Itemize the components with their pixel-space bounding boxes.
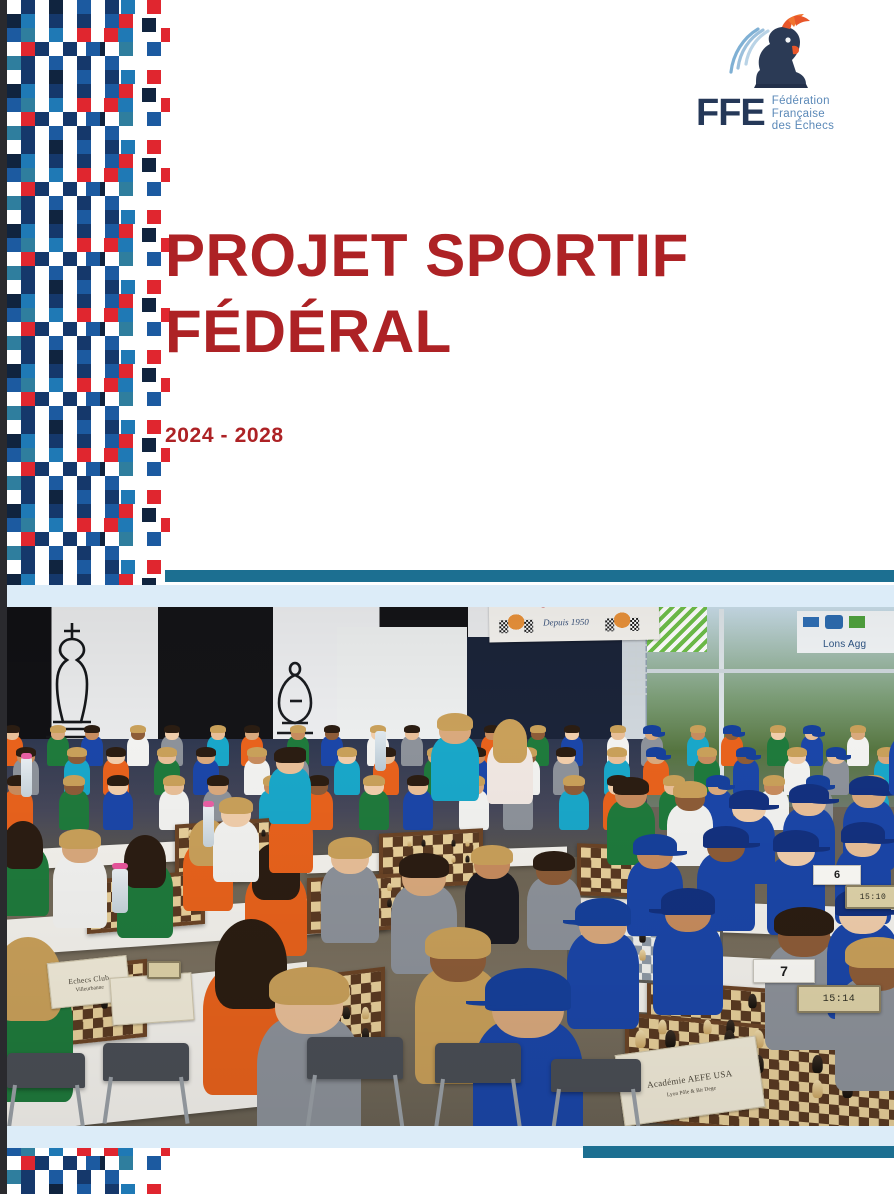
mosaic-cell	[77, 266, 91, 280]
mosaic-cell	[21, 504, 35, 518]
mosaic-cell	[21, 28, 35, 42]
mosaic-cell	[63, 112, 77, 126]
mosaic-cell	[121, 1184, 135, 1194]
mosaic-cell	[77, 56, 91, 70]
mosaic-cell	[49, 448, 63, 462]
mosaic-cell	[119, 294, 133, 308]
mosaic-cell	[49, 378, 63, 392]
mosaic-cell	[161, 518, 170, 532]
person-hair	[157, 747, 177, 757]
mosaic-cell	[105, 434, 119, 448]
mosaic-cell	[35, 252, 49, 266]
person-hair	[425, 927, 490, 959]
bottle-cap-4	[112, 863, 128, 869]
mosaic-cell	[105, 406, 119, 420]
folding-chair	[551, 1059, 641, 1092]
mosaic-cell	[21, 168, 35, 182]
mosaic-cell	[49, 308, 63, 322]
logo-tagline-line2: Française	[772, 108, 834, 121]
mosaic-cell	[121, 490, 135, 504]
person-hair	[7, 725, 20, 733]
mosaic-cell	[49, 560, 63, 574]
bottle-cap-1	[21, 753, 32, 759]
mosaic-cell	[86, 42, 100, 56]
mosaic-cell	[105, 280, 119, 294]
person-hair	[59, 829, 100, 849]
mosaic-cell	[7, 56, 21, 70]
mosaic-cell	[104, 168, 118, 182]
mosaic-cell	[7, 14, 21, 28]
mosaic-cell	[49, 238, 63, 252]
person-cap-brim	[652, 732, 665, 737]
venue-logo-shape-3	[849, 616, 865, 628]
mosaic-cell	[35, 112, 49, 126]
person-hair	[610, 725, 627, 733]
mosaic-cell	[105, 294, 119, 308]
chess-piece	[262, 829, 266, 836]
person-hair	[690, 725, 707, 733]
person-cap-brim	[726, 843, 760, 848]
person-hair	[107, 775, 130, 786]
person-cap-brim	[732, 732, 745, 737]
mosaic-cell	[105, 140, 119, 154]
person-hair	[124, 835, 167, 888]
venue-logo-shape-2	[825, 615, 843, 629]
mosaic-cell	[49, 420, 63, 434]
mosaic-cell	[21, 182, 35, 196]
mosaic-cell	[121, 560, 135, 574]
mosaic-cell	[21, 98, 35, 112]
mosaic-cell	[77, 336, 91, 350]
mosaic-cell	[21, 70, 35, 84]
mosaic-cell	[147, 490, 161, 504]
person-hair	[850, 725, 867, 733]
person-hair	[196, 747, 216, 757]
person-hair	[328, 837, 372, 859]
mosaic-cell	[104, 238, 118, 252]
logo-tagline-line1: Fédération	[772, 95, 834, 108]
person	[835, 937, 894, 1113]
venue-sign: Lons Agg	[797, 611, 894, 653]
mosaic-cell	[119, 532, 133, 546]
mosaic-cell	[77, 1170, 91, 1184]
mosaic-cell	[147, 112, 161, 126]
mosaic-cell	[49, 504, 63, 518]
mosaic-cell	[21, 406, 35, 420]
mosaic-cell	[49, 266, 63, 280]
logo-tagline-line3: des Échecs	[772, 120, 834, 133]
mosaic-cell	[49, 168, 63, 182]
chess-clock-2: 15:14	[797, 985, 881, 1013]
person-hair	[556, 747, 576, 757]
mosaic-cell	[104, 98, 118, 112]
mosaic-cell	[119, 182, 133, 196]
mosaic-cell	[142, 438, 156, 452]
mosaic-cell	[147, 420, 161, 434]
name-card-3-sub: Lyon Pôle & Bir Dege	[667, 1086, 717, 1099]
rooster-chess-piece-icon	[726, 14, 836, 92]
mosaic-cell	[77, 98, 91, 112]
mosaic-cell	[21, 378, 35, 392]
person-torso	[53, 855, 107, 928]
person-hair	[324, 725, 341, 733]
mosaic-cell	[21, 294, 35, 308]
mosaic-cell	[49, 280, 63, 294]
mosaic-cell	[105, 1184, 119, 1194]
person-hair	[210, 725, 227, 733]
mosaic-cell	[77, 210, 91, 224]
mosaic-cell	[7, 238, 21, 252]
person-torso	[103, 790, 133, 831]
mosaic-cell	[21, 1170, 35, 1184]
chess-piece	[451, 839, 455, 846]
mosaic-cell	[21, 84, 35, 98]
mosaic-cell	[119, 154, 133, 168]
cover-page: FFE Fédération Française des Échecs PROJ…	[0, 0, 894, 1194]
mosaic-cell	[63, 462, 77, 476]
person-hair	[207, 775, 230, 786]
mosaic-cell	[161, 28, 170, 42]
person	[359, 775, 389, 838]
mosaic-cell	[147, 1184, 161, 1194]
mosaic-cell	[49, 518, 63, 532]
person-cap-brim	[656, 755, 671, 760]
mosaic-cell	[49, 154, 63, 168]
mosaic-cell	[7, 294, 21, 308]
mosaic-cell	[7, 546, 21, 560]
window-transom	[647, 669, 894, 673]
mosaic-cell	[105, 336, 119, 350]
mosaic-cell	[104, 378, 118, 392]
name-card-3-label: Académie AEFE USA	[646, 1068, 733, 1090]
mosaic-cell	[77, 28, 91, 42]
mosaic-cell	[105, 364, 119, 378]
person-hair	[290, 725, 307, 733]
person-cap-brim	[749, 805, 779, 810]
mosaic-cell	[121, 350, 135, 364]
water-bottle-1	[21, 757, 32, 797]
mosaic-cell	[77, 308, 91, 322]
mosaic-cell	[7, 168, 21, 182]
mosaic-cell	[77, 518, 91, 532]
mosaic-cell	[147, 350, 161, 364]
mosaic-cell	[21, 14, 35, 28]
mosaic-cell	[21, 42, 35, 56]
mosaic-cell	[49, 490, 63, 504]
mosaic-cell	[105, 1170, 119, 1184]
mosaic-cell	[77, 364, 91, 378]
mosaic-cell	[105, 350, 119, 364]
mosaic-cell	[77, 560, 91, 574]
person-hair	[244, 725, 261, 733]
mosaic-cell	[86, 1156, 100, 1170]
water-bottle-2	[203, 805, 214, 847]
mosaic-cell	[105, 56, 119, 70]
person-hair	[845, 937, 894, 968]
person-hair	[219, 797, 254, 814]
person	[53, 829, 107, 942]
person	[847, 725, 869, 771]
person	[103, 775, 133, 838]
left-gutter-strip	[0, 0, 7, 1194]
person-hair	[564, 725, 581, 733]
venue-sign-label: Lons Agg	[823, 639, 866, 650]
mosaic-cell	[7, 1170, 21, 1184]
person-hair	[407, 775, 430, 786]
person-torso	[847, 736, 869, 766]
person-hair	[471, 845, 512, 865]
title-period: 2024 - 2028	[165, 424, 284, 448]
person-cap-brim	[809, 799, 839, 804]
mosaic-cell	[35, 1156, 49, 1170]
mosaic-cell	[21, 560, 35, 574]
mosaic-cell	[86, 252, 100, 266]
venue-logo-shape-1	[803, 617, 819, 627]
mosaic-cell	[105, 0, 119, 14]
mosaic-cell	[21, 280, 35, 294]
person	[653, 887, 723, 1034]
person-cap-brim	[836, 755, 851, 760]
mosaic-cell	[119, 504, 133, 518]
person-cap-brim	[649, 909, 690, 914]
person	[431, 713, 479, 814]
mosaic-cell	[35, 182, 49, 196]
mosaic-cell	[77, 126, 91, 140]
mosaic-cell	[7, 154, 21, 168]
mosaic-cell	[147, 42, 161, 56]
mosaic-cell	[21, 1156, 35, 1170]
mosaic-cell	[21, 112, 35, 126]
mosaic-cell	[77, 154, 91, 168]
mosaic-cell	[105, 560, 119, 574]
person-torso	[334, 759, 360, 794]
divider-bar-teal-bottom	[583, 1146, 894, 1158]
person-hair	[363, 775, 386, 786]
divider-bar-teal	[165, 570, 894, 582]
club-banner-title: ECHIQUIER LEDONIEN	[497, 607, 671, 609]
mosaic-cell	[7, 196, 21, 210]
mosaic-cell	[119, 224, 133, 238]
name-card-1-sub: Villeurbanne	[75, 984, 104, 993]
mosaic-cell	[86, 182, 100, 196]
person-torso	[653, 921, 723, 1016]
mosaic-cell	[119, 378, 133, 392]
mosaic-cell	[142, 228, 156, 242]
person-hair	[533, 851, 574, 871]
person-hair	[50, 725, 67, 733]
mosaic-cell	[77, 140, 91, 154]
mosaic-cell	[35, 42, 49, 56]
mosaic-cell	[7, 84, 21, 98]
person	[127, 725, 149, 771]
mosaic-cell	[21, 462, 35, 476]
person-hair	[613, 777, 649, 795]
mosaic-cell	[86, 322, 100, 336]
person-cap-brim	[746, 755, 761, 760]
cover-photo: Lons Agg ECHIQUIER LEDONIEN Depuis 1950	[7, 607, 894, 1126]
person-torso	[269, 767, 311, 824]
mosaic-cell	[121, 70, 135, 84]
mosaic-cell	[49, 14, 63, 28]
mosaic-cell	[147, 210, 161, 224]
chess-clock-1: 15:10	[845, 885, 894, 909]
mosaic-cell	[21, 392, 35, 406]
mosaic-cell	[121, 0, 135, 14]
mosaic-cell	[77, 420, 91, 434]
mosaic-cell	[147, 70, 161, 84]
person-torso	[559, 790, 589, 831]
mosaic-cell	[77, 0, 91, 14]
mosaic-cell	[7, 126, 21, 140]
mosaic-cell	[21, 238, 35, 252]
person-torso	[431, 736, 479, 801]
divider-band-lightblue	[7, 585, 894, 607]
person-hair	[337, 747, 357, 757]
mosaic-cell	[147, 532, 161, 546]
mosaic-cell	[21, 350, 35, 364]
person-torso	[321, 865, 379, 943]
person-hair	[106, 747, 126, 757]
mosaic-cell	[21, 532, 35, 546]
mosaic-cell	[63, 1156, 77, 1170]
mosaic-cell	[161, 98, 170, 112]
mosaic-cell	[7, 518, 21, 532]
board-placard-7: 7	[753, 959, 815, 983]
mosaic-cell	[77, 350, 91, 364]
divider-band-lightblue-bottom	[7, 1126, 894, 1148]
club-crest-left	[503, 614, 529, 634]
person	[559, 775, 589, 838]
mosaic-cell	[7, 476, 21, 490]
mosaic-cell	[21, 448, 35, 462]
person	[321, 837, 379, 959]
mosaic-cell	[21, 0, 35, 14]
person-cap-brim	[466, 1001, 530, 1006]
mosaic-cell	[86, 392, 100, 406]
person	[213, 797, 259, 894]
mosaic-cell	[49, 210, 63, 224]
person-torso	[127, 736, 149, 766]
person-hair	[770, 725, 787, 733]
chess-piece	[407, 839, 411, 846]
mosaic-cell	[86, 112, 100, 126]
mosaic-cell	[86, 462, 100, 476]
mosaic-cell	[119, 392, 133, 406]
mosaic-cell	[7, 266, 21, 280]
mosaic-cell	[77, 14, 91, 28]
person-hair	[437, 713, 473, 731]
mosaic-cell	[142, 18, 156, 32]
mosaic-cell	[7, 434, 21, 448]
mosaic-cell	[21, 518, 35, 532]
mosaic-cell	[147, 322, 161, 336]
mosaic-cell	[161, 168, 170, 182]
mosaic-cell	[119, 42, 133, 56]
mosaic-cell	[49, 434, 63, 448]
mosaic-cell	[21, 336, 35, 350]
mosaic-cell	[63, 322, 77, 336]
mosaic-cell	[121, 420, 135, 434]
mosaic-cell	[105, 476, 119, 490]
person-hair	[84, 725, 101, 733]
chess-piece	[813, 1080, 824, 1098]
person-hair	[67, 747, 87, 757]
person-cap-brim	[655, 851, 687, 856]
mosaic-cell	[77, 406, 91, 420]
folding-chair	[435, 1043, 521, 1083]
mosaic-cell	[119, 84, 133, 98]
mosaic-cell	[21, 546, 35, 560]
mosaic-cell	[49, 196, 63, 210]
person-hair	[493, 719, 528, 763]
mosaic-cell	[77, 476, 91, 490]
person-hair	[607, 747, 627, 757]
mosaic-cell	[147, 560, 161, 574]
chess-piece	[748, 994, 756, 1008]
mosaic-cell	[49, 406, 63, 420]
mosaic-cell	[104, 448, 118, 462]
person-torso	[889, 736, 894, 795]
mosaic-cell	[142, 298, 156, 312]
mosaic-cell	[21, 154, 35, 168]
mosaic-cell	[7, 224, 21, 238]
mosaic-cell	[21, 322, 35, 336]
mosaic-cell	[142, 88, 156, 102]
person-hair	[164, 725, 181, 733]
mosaic-cell	[105, 84, 119, 98]
name-card-2	[109, 972, 194, 1026]
mosaic-cell	[77, 434, 91, 448]
mosaic-cell	[77, 168, 91, 182]
mosaic-cell	[7, 504, 21, 518]
mosaic-cell	[119, 462, 133, 476]
logo-acronym: FFE	[696, 94, 765, 132]
mosaic-cell	[147, 1156, 161, 1170]
folding-chair	[307, 1037, 403, 1079]
mosaic-cell	[21, 420, 35, 434]
board-placard-6: 6	[813, 865, 861, 885]
mosaic-cell	[105, 126, 119, 140]
mosaic-cell	[49, 140, 63, 154]
mosaic-cell	[105, 504, 119, 518]
mosaic-cell	[142, 158, 156, 172]
bottle-cap-2	[203, 801, 214, 807]
mosaic-cell	[35, 392, 49, 406]
person-hair	[563, 775, 586, 786]
mosaic-cell	[7, 448, 21, 462]
person	[334, 747, 360, 802]
mosaic-cell	[119, 112, 133, 126]
mosaic-cell	[21, 490, 35, 504]
folding-chair	[103, 1043, 189, 1081]
mosaic-cell	[49, 84, 63, 98]
water-bottle-4	[112, 869, 128, 913]
person-cap-brim	[812, 732, 825, 737]
mosaic-cell	[105, 420, 119, 434]
mosaic-cell	[86, 532, 100, 546]
mosaic-cell	[119, 364, 133, 378]
person-hair	[130, 725, 147, 733]
mosaic-cell	[49, 56, 63, 70]
mosaic-cell	[104, 28, 118, 42]
mosaic-cell	[77, 546, 91, 560]
person-torso	[403, 790, 433, 831]
person-hair	[274, 747, 306, 763]
person-torso	[359, 790, 389, 831]
mosaic-cell	[119, 448, 133, 462]
mosaic-cell	[49, 98, 63, 112]
mosaic-cell	[119, 168, 133, 182]
